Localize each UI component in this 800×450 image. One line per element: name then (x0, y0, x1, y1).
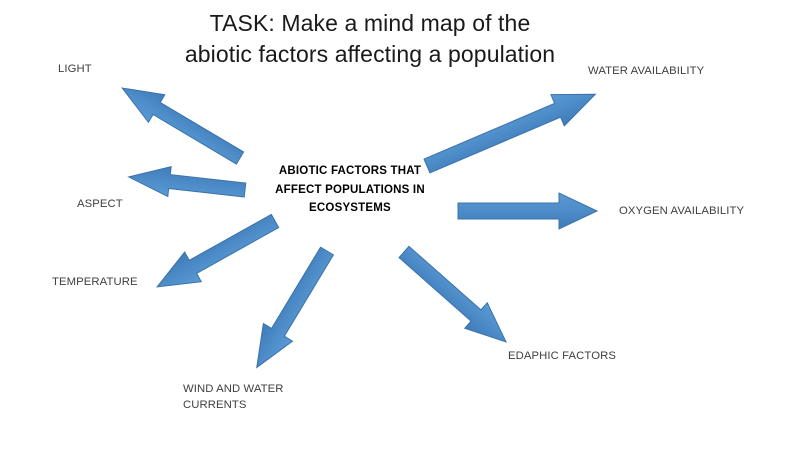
arrow-to-edaphic-factors (393, 239, 517, 354)
branch-label-aspect: ASPECT (77, 196, 123, 212)
arrow-to-aspect (127, 162, 247, 205)
arrow-to-light (114, 74, 248, 171)
page-title: TASK: Make a mind map of the abiotic fac… (180, 8, 560, 70)
branch-label-wind-and-water-currents: WIND AND WATER CURRENTS (183, 381, 284, 413)
branch-label-light: LIGHT (58, 61, 92, 77)
branch-label-water-availability: WATER AVAILABILITY (588, 63, 704, 79)
slide-canvas: TASK: Make a mind map of the abiotic fac… (0, 0, 800, 450)
arrow-to-oxygen-availability (458, 193, 597, 229)
mindmap-center-node: ABIOTIC FACTORS THAT AFFECT POPULATIONS … (270, 162, 430, 218)
branch-label-edaphic-factors: EDAPHIC FACTORS (508, 348, 616, 364)
branch-label-oxygen-availability: OXYGEN AVAILABILITY (619, 203, 744, 219)
branch-label-temperature: TEMPERATURE (52, 274, 138, 290)
arrow-to-wind-and-water-currents (242, 242, 341, 376)
arrow-to-temperature (149, 206, 283, 302)
arrow-to-water-availability (420, 79, 602, 182)
